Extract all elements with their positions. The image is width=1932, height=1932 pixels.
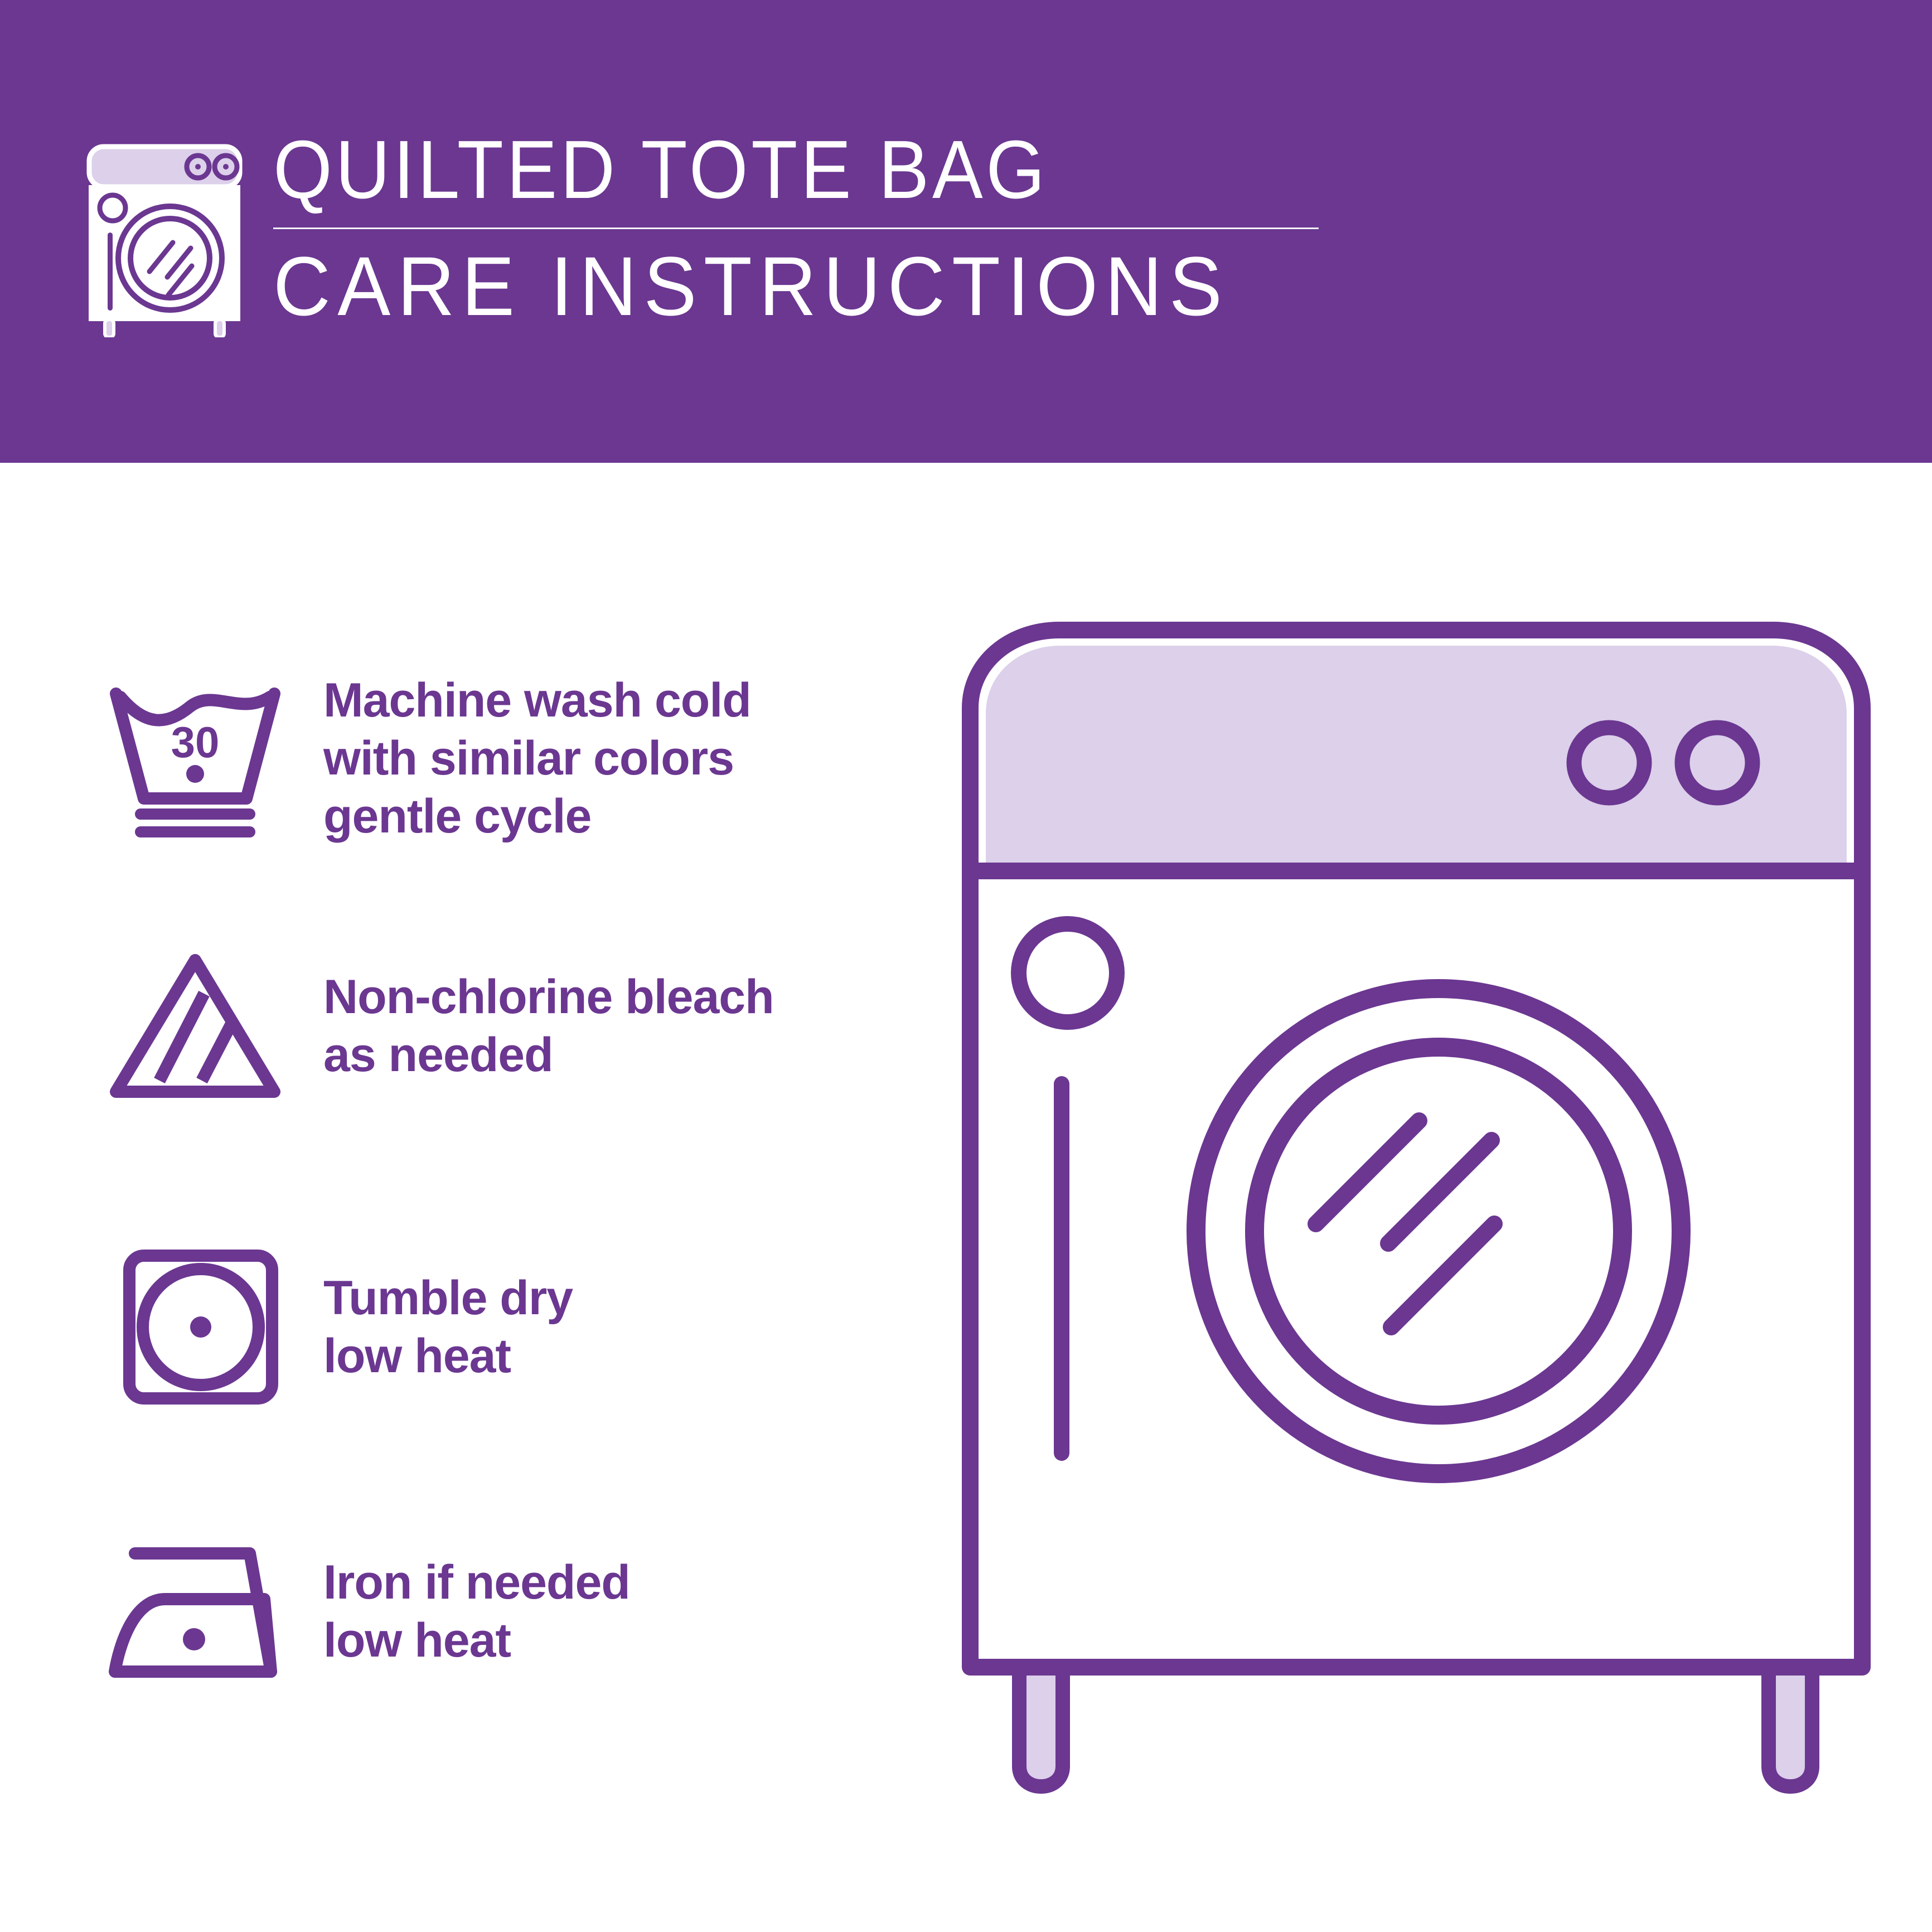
care-item-iron: Iron if needed low heat [84,1500,892,1723]
care-item-label: Iron if needed low heat [323,1553,892,1669]
care-item-bleach: Non-chlorine bleach as needed [84,914,892,1137]
page-subtitle: CARE INSTRUCTIONS [273,244,1285,328]
vertical-handle-bar [1054,1076,1069,1461]
iron-low-heat-icon [84,1528,307,1695]
knob-right [1682,728,1752,798]
header-content: QUILTED TOTE BAG CARE INSTRUCTIONS [78,128,1338,351]
care-item-machine-wash: 30 Machine wash cold with similar colors… [84,647,892,870]
front-load-washing-machine-illustration [948,608,1885,1862]
svg-text:30: 30 [171,718,220,767]
washing-machine-icon [78,137,251,337]
tumble-dry-low-heat-icon [84,1243,307,1411]
header-band: QUILTED TOTE BAG CARE INSTRUCTIONS [0,0,1932,463]
door-inner-ring [1255,1047,1623,1415]
header-divider [273,227,1319,229]
main-content: 30 Machine wash cold with similar colors… [0,463,1932,1932]
care-item-tumble-dry: Tumble dry low heat [84,1216,892,1439]
detergent-dispenser-circle [1019,924,1117,1022]
header-text-column: QUILTED TOTE BAG CARE INSTRUCTIONS [273,128,1338,328]
knob-left [1574,728,1644,798]
leg-right [1769,1667,1812,1786]
leg-left [1019,1667,1063,1786]
care-item-label: Non-chlorine bleach as needed [323,968,892,1084]
care-item-label: Tumble dry low heat [323,1269,892,1385]
non-chlorine-bleach-triangle-icon [84,942,307,1110]
page-title: QUILTED TOTE BAG [273,128,1253,212]
care-item-label: Machine wash cold with similar colors ge… [323,671,892,845]
wash-tub-30-gentle-icon: 30 [84,675,307,842]
